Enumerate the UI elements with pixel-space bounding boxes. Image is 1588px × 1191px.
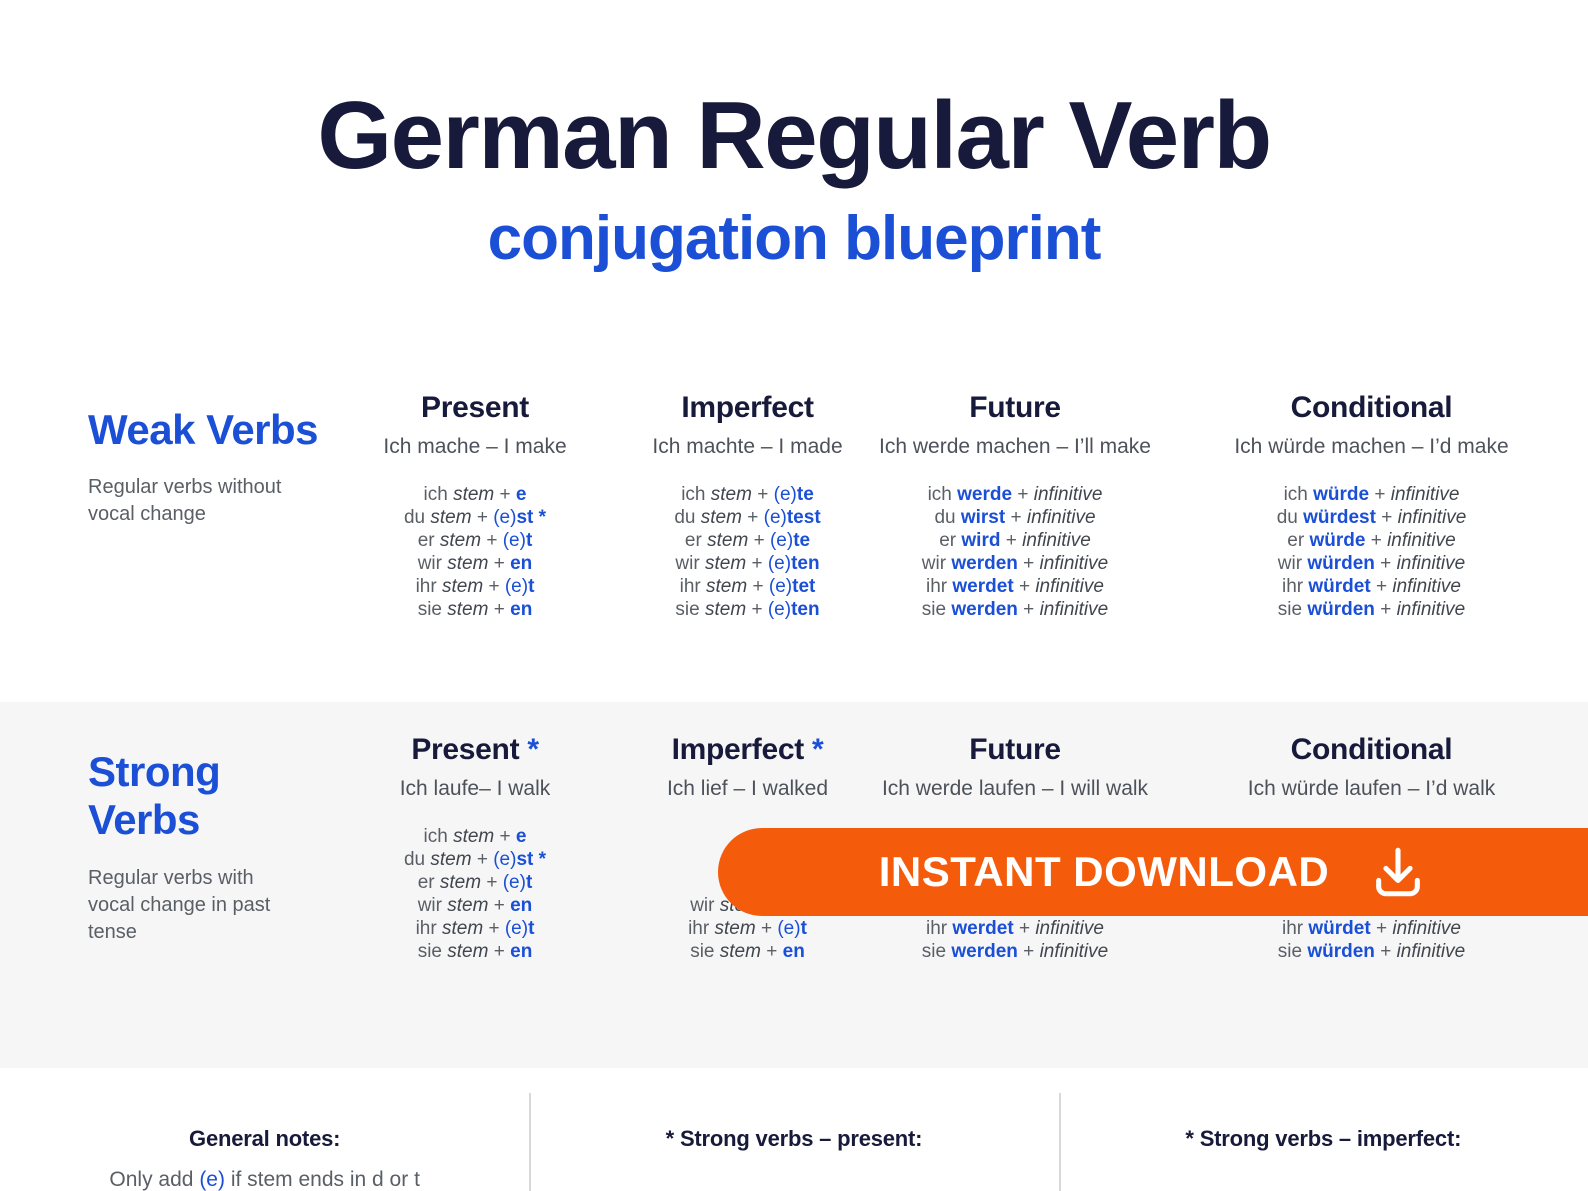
tense-name: Future bbox=[879, 732, 1151, 768]
strong-verbs-description: Regular verbs with vocal change in past … bbox=[88, 865, 298, 946]
conjugation-row: ich stem + (e)te bbox=[624, 484, 871, 507]
weak-verbs-title: Weak Verbs bbox=[88, 406, 330, 454]
weak-verbs-description: Regular verbs without vocal change bbox=[88, 474, 298, 528]
infographic-page: German Regular Verb conjugation blueprin… bbox=[0, 0, 1588, 1191]
conjugation-row: wir stem + en bbox=[334, 895, 616, 918]
tense-example: Ich würde laufen – I’d walk bbox=[1159, 776, 1584, 802]
conjugation-list: ich stem + edu stem + (e)st *er stem + (… bbox=[334, 484, 616, 622]
page-title: German Regular Verb bbox=[0, 0, 1588, 187]
note-title: * Strong verbs – imperfect: bbox=[1059, 1126, 1588, 1152]
tense-column-conditional: ConditionalIch würde machen – I’d makeic… bbox=[1155, 390, 1588, 622]
conjugation-row: ihr werdet + infinitive bbox=[879, 576, 1151, 599]
tense-name: Future bbox=[879, 390, 1151, 426]
conjugation-row: wir werden + infinitive bbox=[879, 553, 1151, 576]
note-strong-imperfect: * Strong verbs – imperfect: bbox=[1059, 1068, 1588, 1191]
section-weak-verbs: Weak Verbs Regular verbs without vocal c… bbox=[0, 360, 1588, 702]
tense-name: Conditional bbox=[1159, 732, 1584, 768]
conjugation-row: wir stem + (e)ten bbox=[624, 553, 871, 576]
tense-column-present-strong: Present *Ich laufe– I walkich stem + edu… bbox=[330, 732, 620, 964]
conjugation-row: ihr werdet + infinitive bbox=[879, 918, 1151, 941]
conjugation-row: sie würden + infinitive bbox=[1159, 941, 1584, 964]
conjugation-row: ihr stem + (e)t bbox=[334, 918, 616, 941]
conjugation-row: er wird + infinitive bbox=[879, 530, 1151, 553]
conjugation-row: ich stem + e bbox=[334, 826, 616, 849]
tense-example: Ich machte – I made bbox=[624, 434, 871, 460]
conjugation-row: sie würden + infinitive bbox=[1159, 599, 1584, 622]
tense-name: Imperfect * bbox=[624, 732, 871, 768]
note-title: General notes: bbox=[0, 1126, 529, 1152]
conjugation-row: er würde + infinitive bbox=[1159, 530, 1584, 553]
conjugation-row: er stem + (e)t bbox=[334, 872, 616, 895]
conjugation-row: du wirst + infinitive bbox=[879, 507, 1151, 530]
conjugation-row: ich würde + infinitive bbox=[1159, 484, 1584, 507]
tense-name: Present * bbox=[334, 732, 616, 768]
weak-verbs-grid: Weak Verbs Regular verbs without vocal c… bbox=[0, 360, 1588, 622]
asterisk-marker: * bbox=[812, 733, 823, 766]
conjugation-row: sie werden + infinitive bbox=[879, 599, 1151, 622]
conjugation-list: ich werde + infinitivedu wirst + infinit… bbox=[879, 484, 1151, 622]
tense-example: Ich laufe– I walk bbox=[334, 776, 616, 802]
conjugation-row: er stem + (e)te bbox=[624, 530, 871, 553]
conjugation-row: ihr stem + (e)t bbox=[334, 576, 616, 599]
conjugation-row: ihr stem + (e)t bbox=[624, 918, 871, 941]
tense-example: Ich werde machen – I’ll make bbox=[879, 434, 1151, 460]
conjugation-list: ich würde + infinitivedu würdest + infin… bbox=[1159, 484, 1584, 622]
conjugation-row: sie stem + en bbox=[624, 941, 871, 964]
tense-column-present: PresentIch mache – I makeich stem + edu … bbox=[330, 390, 620, 622]
page-subtitle: conjugation blueprint bbox=[0, 205, 1588, 273]
conjugation-row: ihr würdet + infinitive bbox=[1159, 918, 1584, 941]
notes-section: General notes:Only add (e) if stem ends … bbox=[0, 1068, 1588, 1191]
note-body: Only add (e) if stem ends in d or t bbox=[0, 1168, 529, 1191]
conjugation-row: ihr stem + (e)tet bbox=[624, 576, 871, 599]
tense-name: Imperfect bbox=[624, 390, 871, 426]
conjugation-row: wir würden + infinitive bbox=[1159, 553, 1584, 576]
conjugation-row: sie stem + en bbox=[334, 599, 616, 622]
tense-name: Conditional bbox=[1159, 390, 1584, 426]
conjugation-row: du stem + (e)st * bbox=[334, 849, 616, 872]
weak-verbs-label: Weak Verbs Regular verbs without vocal c… bbox=[0, 390, 330, 622]
download-icon bbox=[1369, 843, 1427, 901]
tense-example: Ich mache – I make bbox=[334, 434, 616, 460]
tense-column-imperfect: ImperfectIch machte – I madeich stem + (… bbox=[620, 390, 875, 622]
strong-verbs-title: Strong Verbs bbox=[88, 748, 330, 845]
conjugation-row: wir stem + en bbox=[334, 553, 616, 576]
note-title: * Strong verbs – present: bbox=[529, 1126, 1058, 1152]
page-header: German Regular Verb conjugation blueprin… bbox=[0, 0, 1588, 273]
conjugation-list: ich stem + (e)tedu stem + (e)tester stem… bbox=[624, 484, 871, 622]
note-strong-present: * Strong verbs – present: bbox=[529, 1068, 1058, 1191]
conjugation-row: sie stem + en bbox=[334, 941, 616, 964]
conjugation-row: ihr würdet + infinitive bbox=[1159, 576, 1584, 599]
tense-example: Ich werde laufen – I will walk bbox=[879, 776, 1151, 802]
tense-example: Ich lief – I walked bbox=[624, 776, 871, 802]
strong-verbs-label: Strong Verbs Regular verbs with vocal ch… bbox=[0, 732, 330, 964]
conjugation-list: ich stem + edu stem + (e)st *er stem + (… bbox=[334, 826, 616, 964]
tense-example: Ich würde machen – I’d make bbox=[1159, 434, 1584, 460]
conjugation-row: er stem + (e)t bbox=[334, 530, 616, 553]
conjugation-row: sie werden + infinitive bbox=[879, 941, 1151, 964]
conjugation-row: ich stem + e bbox=[334, 484, 616, 507]
conjugation-row: du stem + (e)st * bbox=[334, 507, 616, 530]
tense-name: Present bbox=[334, 390, 616, 426]
note-general: General notes:Only add (e) if stem ends … bbox=[0, 1068, 529, 1191]
instant-download-button[interactable]: INSTANT DOWNLOAD bbox=[718, 828, 1588, 916]
tense-column-future: FutureIch werde machen – I’ll makeich we… bbox=[875, 390, 1155, 622]
conjugation-row: du würdest + infinitive bbox=[1159, 507, 1584, 530]
conjugation-row: du stem + (e)test bbox=[624, 507, 871, 530]
asterisk-marker: * bbox=[527, 733, 538, 766]
instant-download-label: INSTANT DOWNLOAD bbox=[879, 848, 1330, 896]
conjugation-row: ich werde + infinitive bbox=[879, 484, 1151, 507]
conjugation-row: sie stem + (e)ten bbox=[624, 599, 871, 622]
